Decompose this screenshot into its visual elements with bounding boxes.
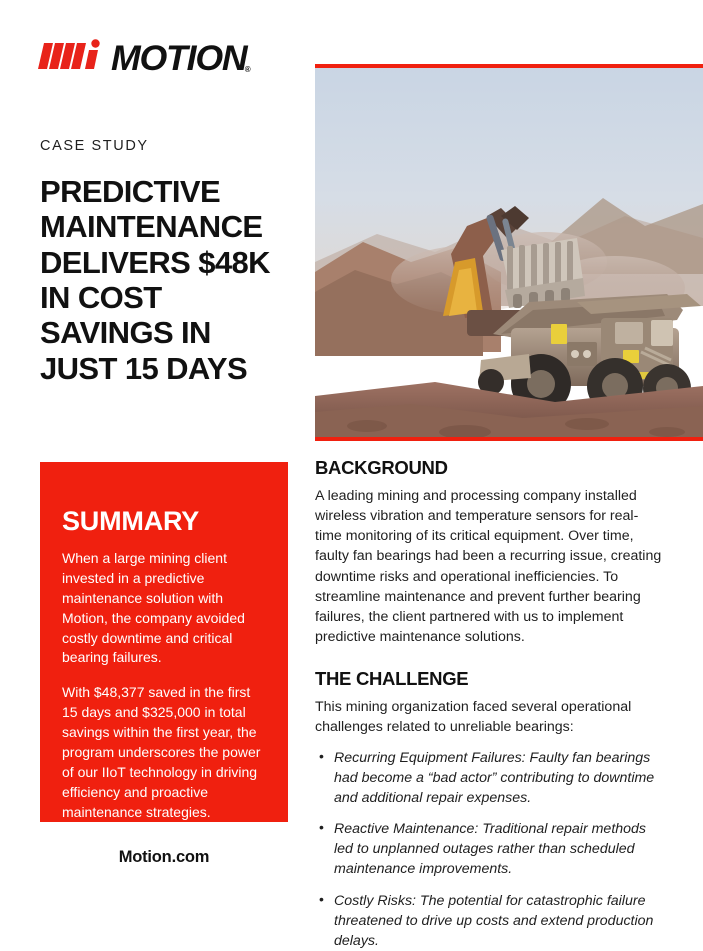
hero-image [315,64,703,441]
challenge-heading: THE CHALLENGE [315,668,663,690]
summary-panel: SUMMARY When a large mining client inves… [40,462,288,822]
list-item: Recurring Equipment Failures: Faulty fan… [315,748,663,808]
hero-accent-rule-bottom [315,437,703,441]
eyebrow-label: CASE STUDY [40,138,295,154]
page-title: PREDICTIVE MAINTENANCE DELIVERS $48K IN … [40,174,295,386]
motion-logo[interactable]: MOTION ® [38,40,295,76]
logo-wordmark: MOTION [111,41,246,76]
left-column: MOTION ® CASE STUDY PREDICTIVE MAINTENAN… [40,40,295,407]
section-spacer [315,647,663,668]
challenge-intro: This mining organization faced several o… [315,697,663,737]
summary-paragraph-2: With $48,377 saved in the first 15 days … [62,683,266,822]
hero-accent-rule-top [315,64,703,68]
list-item: Reactive Maintenance: Traditional repair… [315,819,663,879]
motion-slashes-logo-icon [38,39,110,76]
list-item: Costly Risks: The potential for catastro… [315,891,663,951]
challenge-bullet-list: Recurring Equipment Failures: Faulty fan… [315,748,663,951]
footer-website-link[interactable]: Motion.com [40,848,288,867]
case-study-page: MOTION ® CASE STUDY PREDICTIVE MAINTENAN… [0,0,703,909]
right-column: BACKGROUND A leading mining and processi… [315,457,663,951]
summary-heading: SUMMARY [62,508,266,535]
background-heading: BACKGROUND [315,457,663,479]
background-body: A leading mining and processing company … [315,486,663,647]
summary-paragraph-1: When a large mining client invested in a… [62,549,266,668]
